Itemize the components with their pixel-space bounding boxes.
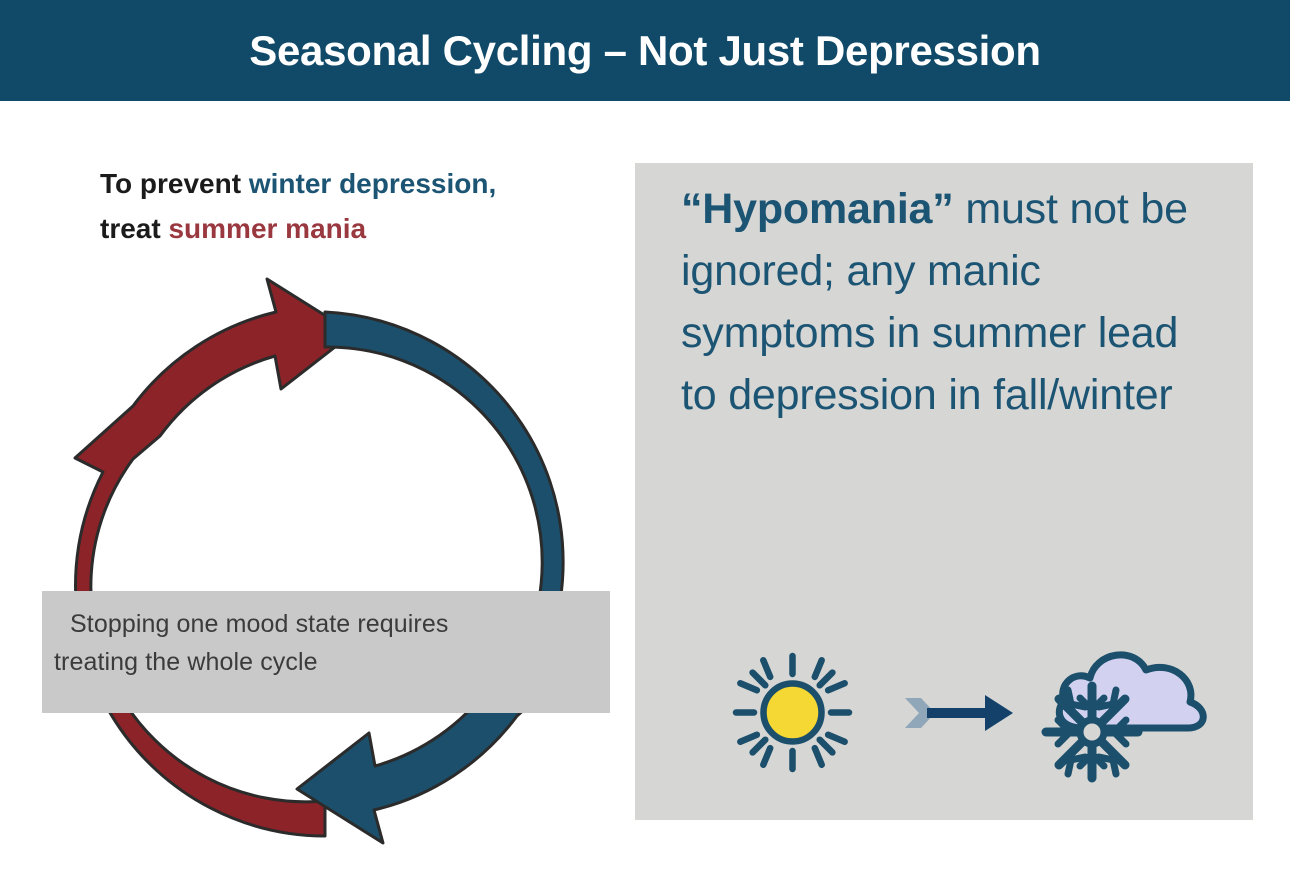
hypomania-keyword: “Hypomania” [681,185,954,233]
page-header: Seasonal Cycling – Not Just Depression [0,0,1290,101]
sun-icon [730,650,855,780]
winter-depression-arc-arrow [297,312,575,843]
hypomania-callout-panel: “Hypomania” must not be ignored; any man… [635,163,1253,820]
season-transition-icons [675,628,1235,798]
lead-part-to-prevent: To prevent [100,168,249,199]
page-title: Seasonal Cycling – Not Just Depression [249,30,1041,72]
hypomania-statement: “Hypomania” must not be ignored; any man… [681,179,1221,427]
right-arrow-icon [905,690,1015,741]
cycle-caption-line-2: treating the whole cycle [54,643,610,681]
lead-part-treat: treat [100,213,168,244]
summer-mania-arc-arrow [75,279,353,836]
cycle-caption-box: Stopping one mood state requires treatin… [42,591,610,713]
lead-part-winter-depression: winter depression, [249,168,496,199]
snow-cloud-icon [1030,628,1220,798]
lead-part-summer-mania: summer mania [168,213,366,244]
left-column: To prevent winter depression, treat summ… [0,101,635,878]
mood-cycle-diagram [45,276,605,846]
cycle-caption-line-1: Stopping one mood state requires [70,605,610,643]
lead-statement: To prevent winter depression, treat summ… [100,161,630,252]
